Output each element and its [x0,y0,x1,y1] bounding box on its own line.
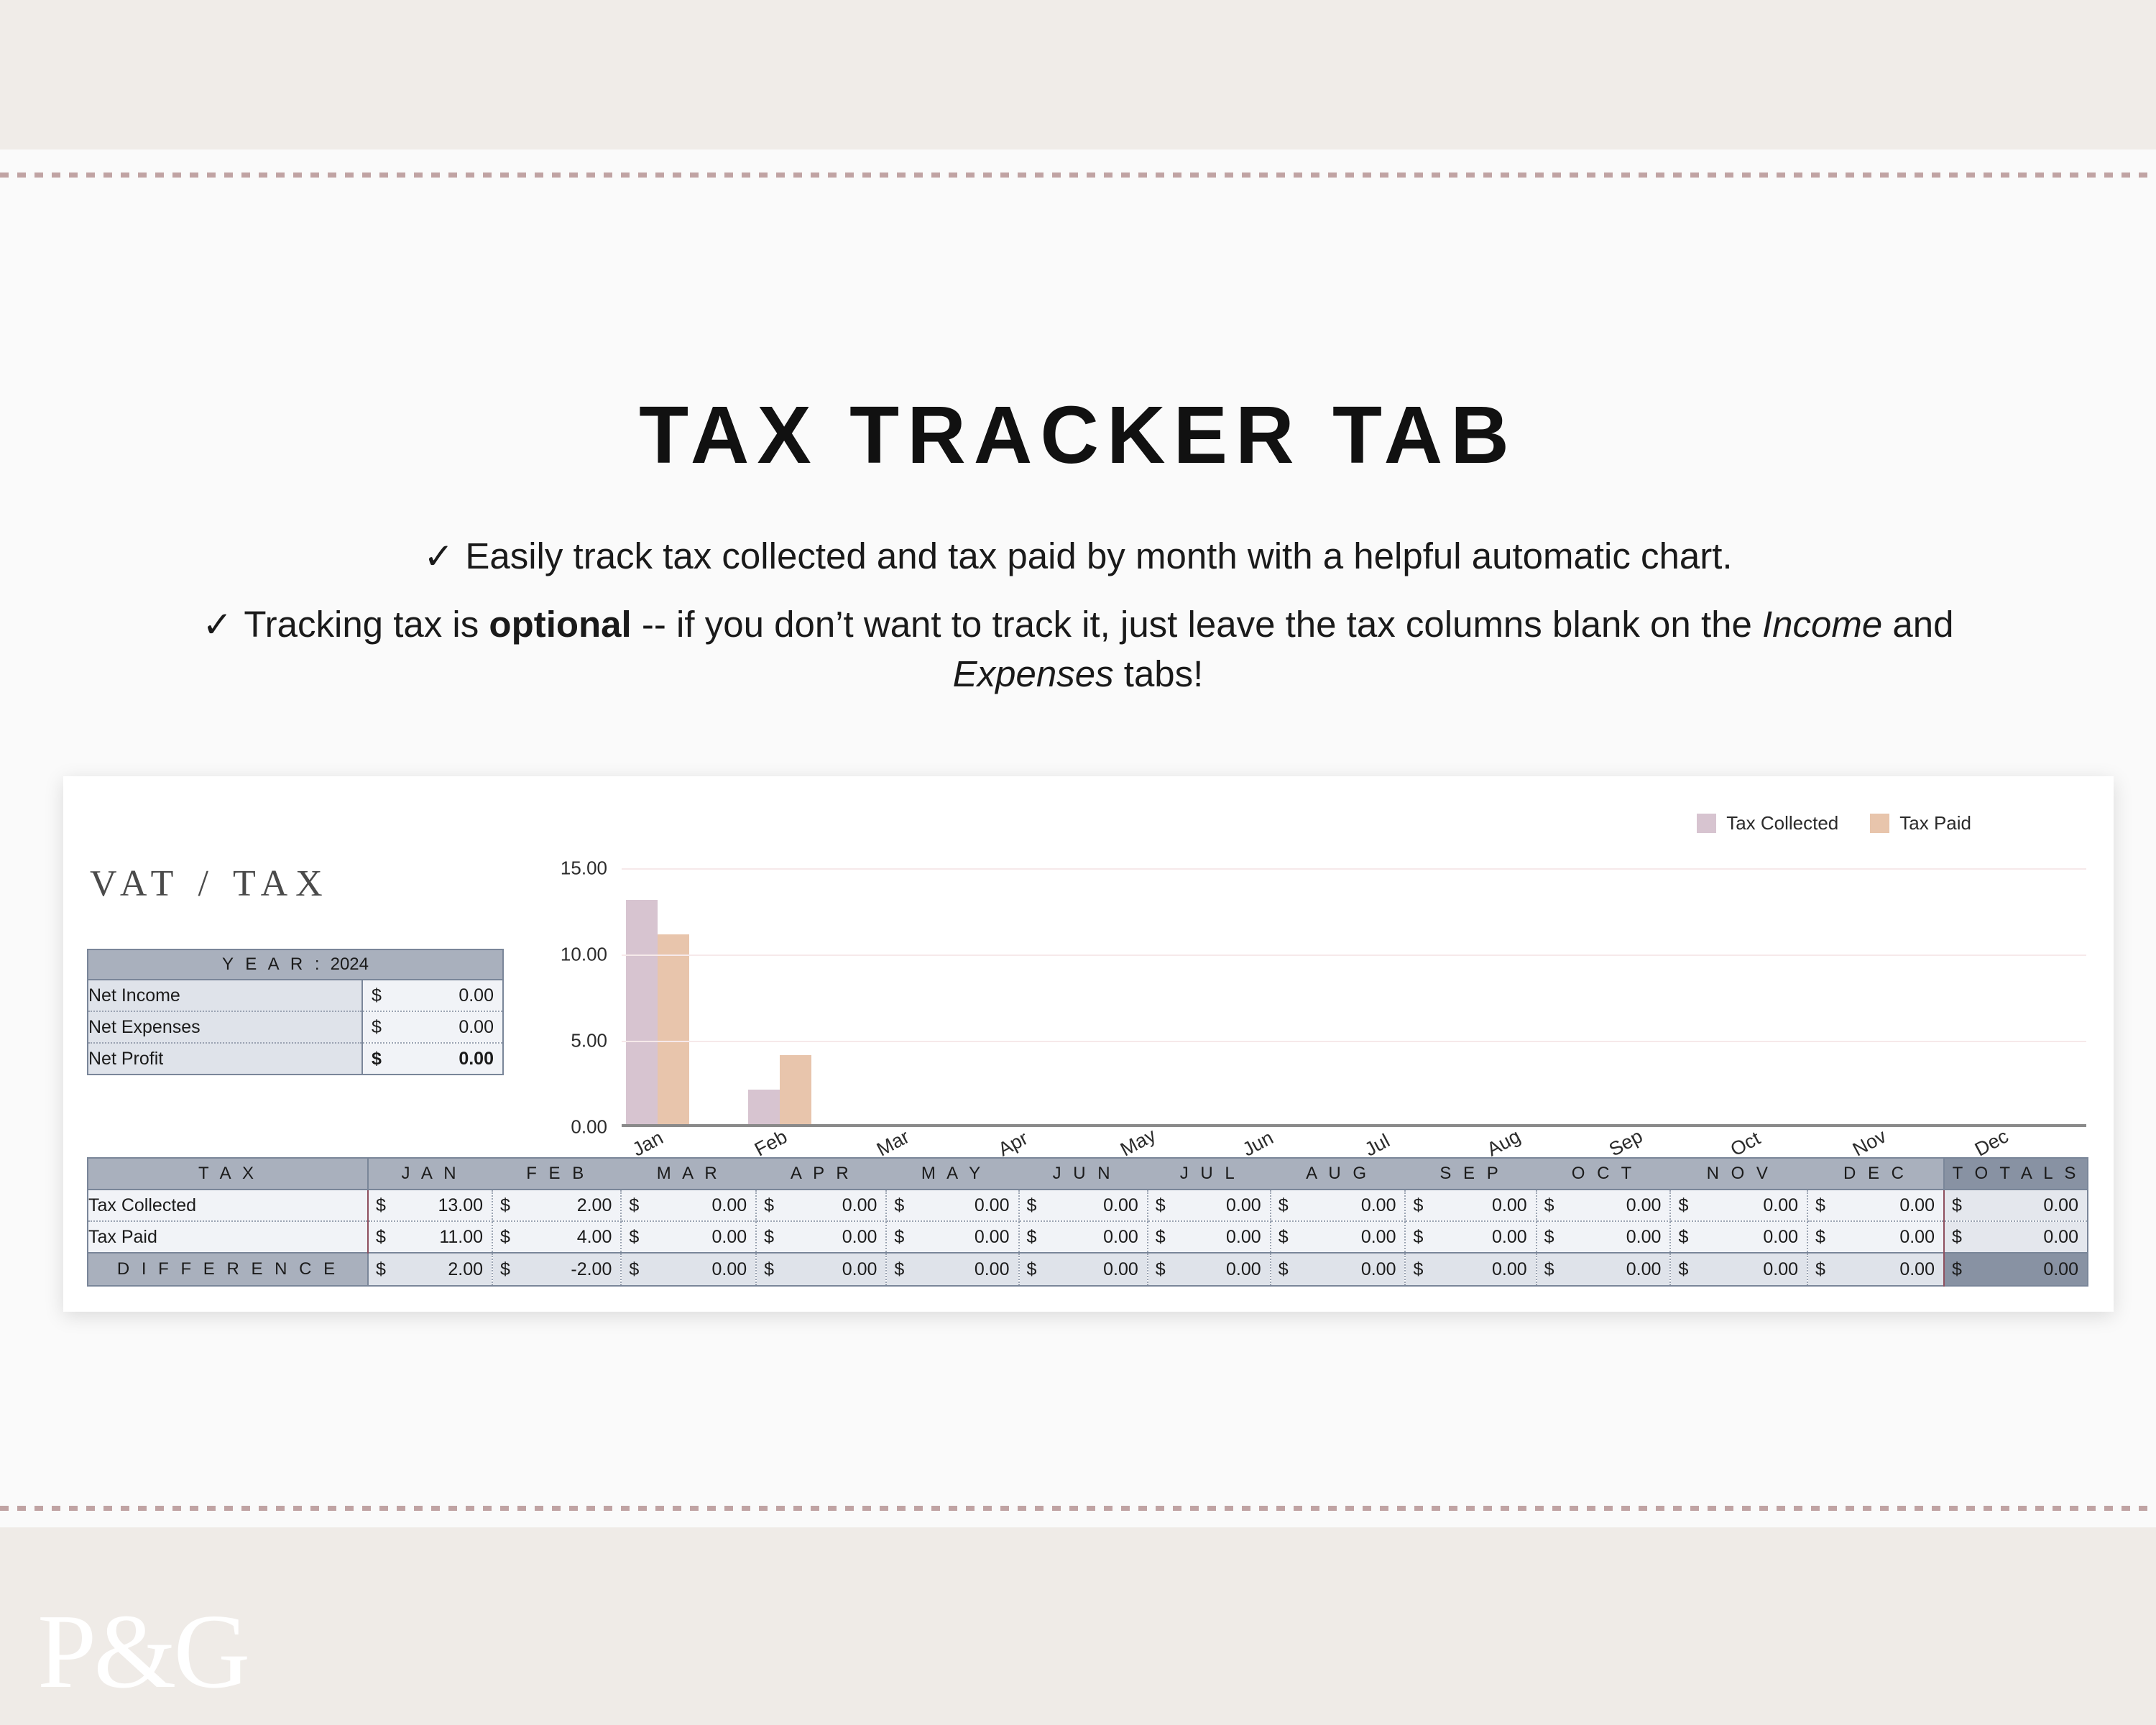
summary-row-label: Net Income [88,980,362,1011]
table-value-cell[interactable]: $0.00 [1271,1221,1406,1253]
currency-symbol: $ [629,1259,639,1280]
currency-symbol: $ [500,1259,510,1280]
cell-amount: 0.00 [1406,1259,1535,1280]
legend-swatch-icon [1870,814,1889,833]
table-header-month: J U L [1148,1158,1271,1190]
table-value-cell[interactable]: $0.00 [1148,1221,1271,1253]
currency-symbol: $ [1156,1259,1166,1280]
table-header-month: J A N [368,1158,492,1190]
currency-symbol: $ [1279,1259,1289,1280]
cell-amount: 0.00 [1945,1259,2087,1280]
x-axis-tick-label: Mar [873,1126,913,1161]
summary-row: Net Profit $ 0.00 [88,1043,503,1075]
table-value-cell[interactable]: $0.00 [1670,1190,1807,1221]
chart-plot [622,868,2086,1127]
chart-month-group [1354,868,1476,1124]
chart-month-group [1842,868,1964,1124]
table-value-cell[interactable]: $0.00 [1807,1253,1944,1286]
table-header-totals: T O T A L S [1944,1158,2088,1190]
currency-symbol: $ [1678,1227,1688,1248]
currency-symbol: $ [500,1195,510,1216]
currency-symbol: $ [894,1227,904,1248]
table-header-tax: T A X [88,1158,368,1190]
table-value-cell[interactable]: $0.00 [621,1253,756,1286]
cell-amount: 0.00 [1148,1227,1270,1248]
bullet-item-2-and: and [1882,604,1953,645]
currency-symbol: $ [372,985,382,1006]
table-value-cell[interactable]: $4.00 [492,1221,621,1253]
cell-amount: 11.00 [369,1227,492,1248]
summary-box: Y E A R :2024 Net Income $ 0.00 Net Expe… [87,949,504,1075]
cell-amount: 0.00 [1148,1259,1270,1280]
chart-bar [658,934,689,1124]
currency-symbol: $ [1544,1227,1554,1248]
y-axis-tick-label: 10.00 [561,944,607,966]
cell-amount: 0.00 [1537,1259,1670,1280]
legend-item: Tax Paid [1870,812,1971,834]
table-value-cell[interactable]: $0.00 [1405,1190,1536,1221]
currency-symbol: $ [764,1227,774,1248]
cell-amount: 0.00 [1406,1195,1535,1216]
legend-swatch-icon [1697,814,1716,833]
currency-symbol: $ [1952,1227,1962,1248]
summary-row-label: Net Profit [88,1043,362,1075]
summary-row: Net Expenses $ 0.00 [88,1011,503,1043]
table-difference-label: D I F F E R E N C E [88,1253,368,1286]
currency-symbol: $ [376,1227,386,1248]
summary-row-value: $ 0.00 [362,980,503,1011]
summary-amount: 0.00 [363,1049,502,1069]
table-value-cell[interactable]: $0.00 [1019,1253,1148,1286]
table-value-cell[interactable]: $0.00 [1019,1190,1148,1221]
bullet-item-2-post: tabs! [1114,653,1204,694]
top-dotted-divider [0,172,2156,178]
checkmark-icon: ✓ [202,604,244,645]
table-total-cell[interactable]: $0.00 [1944,1221,2088,1253]
currency-symbol: $ [629,1227,639,1248]
summary-row: Net Income $ 0.00 [88,980,503,1011]
cell-amount: 0.00 [1808,1195,1943,1216]
chart-bar [748,1090,780,1124]
table-value-cell[interactable]: $0.00 [886,1253,1018,1286]
bullet-item-2: ✓Tracking tax is optional -- if you don’… [180,600,1976,699]
currency-symbol: $ [372,1049,382,1069]
table-value-cell[interactable]: $0.00 [1537,1190,1671,1221]
table-value-cell[interactable]: $0.00 [1405,1221,1536,1253]
cell-amount: 0.00 [1671,1195,1807,1216]
table-value-cell[interactable]: $0.00 [1807,1221,1944,1253]
table-difference-row: D I F F E R E N C E$2.00$-2.00$0.00$0.00… [88,1253,2088,1286]
currency-symbol: $ [1027,1259,1037,1280]
spreadsheet-card: VAT / TAX Y E A R :2024 Net Income $ 0.0… [63,776,2114,1312]
cell-amount: 0.00 [757,1195,885,1216]
table-value-cell[interactable]: $0.00 [1807,1190,1944,1221]
chart-month-group [987,868,1110,1124]
chart-bar [780,1055,811,1124]
table-value-cell[interactable]: $0.00 [1405,1253,1536,1286]
bottom-dotted-divider [0,1506,2156,1511]
cell-amount: 0.00 [1271,1259,1405,1280]
brand-logo: P&G [37,1598,247,1705]
table-value-cell[interactable]: $0.00 [1148,1253,1271,1286]
table-value-cell[interactable]: $0.00 [1148,1190,1271,1221]
table-value-cell[interactable]: $0.00 [756,1190,886,1221]
currency-symbol: $ [1156,1195,1166,1216]
table-value-cell[interactable]: $2.00 [492,1190,621,1221]
table-row-label: Tax Paid [88,1221,368,1253]
currency-symbol: $ [629,1195,639,1216]
currency-symbol: $ [500,1227,510,1248]
y-axis-tick-label: 5.00 [571,1030,607,1052]
cell-amount: 0.00 [622,1227,755,1248]
chart-plot-area: 0.005.0010.0015.00 JanFebMarAprMayJunJul… [534,868,2086,1170]
vat-tax-heading: VAT / TAX [90,862,331,905]
table-value-cell[interactable]: $0.00 [1670,1221,1807,1253]
table-header-month: M A Y [886,1158,1018,1190]
checkmark-icon: ✓ [423,536,465,576]
cell-amount: 0.00 [1808,1259,1943,1280]
chart-month-group [744,868,866,1124]
table-header-month: D E C [1807,1158,1944,1190]
bullet-item-1-text: Easily track tax collected and tax paid … [465,535,1732,576]
chart-gridline [622,868,2086,870]
currency-symbol: $ [1952,1259,1962,1280]
table-header-month: N O V [1670,1158,1807,1190]
chart-month-group [1476,868,1598,1124]
currency-symbol: $ [764,1195,774,1216]
cell-amount: 13.00 [369,1195,492,1216]
table-value-cell[interactable]: $0.00 [756,1253,886,1286]
currency-symbol: $ [1413,1227,1423,1248]
x-axis-tick-label: May [1117,1124,1160,1161]
x-axis-tick-label: Aug [1483,1125,1524,1161]
bullet-item-2-mid: -- if you don’t want to track it, just l… [632,604,1762,645]
chart-y-axis: 0.005.0010.0015.00 [534,868,614,1127]
cell-amount: 0.00 [622,1195,755,1216]
tax-data-table: T A XJ A NF E BM A RA P RM A YJ U NJ U L… [87,1157,2088,1287]
currency-symbol: $ [894,1259,904,1280]
chart-month-group [1964,868,2086,1124]
bottom-decorative-band [0,1527,2156,1725]
table-header-month: F E B [492,1158,621,1190]
currency-symbol: $ [1544,1259,1554,1280]
table-value-cell[interactable]: $0.00 [1019,1221,1148,1253]
cell-amount: 0.00 [1945,1195,2087,1216]
cell-amount: 0.00 [1537,1195,1670,1216]
currency-symbol: $ [376,1195,386,1216]
top-decorative-band [0,0,2156,149]
summary-row-value: $ 0.00 [362,1011,503,1043]
table-row: Tax Collected$13.00$2.00$0.00$0.00$0.00$… [88,1190,2088,1221]
cell-amount: 0.00 [1020,1259,1147,1280]
table-value-cell[interactable]: $0.00 [1537,1253,1671,1286]
chart-bars [622,868,2086,1124]
currency-symbol: $ [1156,1227,1166,1248]
legend-item: Tax Collected [1697,812,1838,834]
table-header-row: T A XJ A NF E BM A RA P RM A YJ U NJ U L… [88,1158,2088,1190]
table-value-cell[interactable]: $0.00 [886,1190,1018,1221]
x-axis-tick-label: Oct [1727,1127,1764,1161]
bullet-spacer [0,581,2156,600]
table-value-cell[interactable]: $0.00 [621,1221,756,1253]
x-axis-tick-label: Jun [1239,1127,1277,1161]
currency-symbol: $ [1027,1227,1037,1248]
cell-amount: 0.00 [887,1227,1018,1248]
cell-amount: 0.00 [1271,1195,1405,1216]
cell-amount: 0.00 [887,1259,1018,1280]
bullet-list: ✓Easily track tax collected and tax paid… [0,532,2156,699]
bullet-item-2-italic-income: Income [1762,604,1882,645]
chart-month-group [1110,868,1232,1124]
cell-amount: 0.00 [1537,1227,1670,1248]
y-axis-tick-label: 15.00 [561,857,607,880]
table-value-cell[interactable]: $2.00 [368,1253,492,1286]
bullet-item-2-pre: Tracking tax is [244,604,489,645]
currency-symbol: $ [372,1017,382,1038]
cell-amount: 0.00 [1671,1227,1807,1248]
table-value-cell[interactable]: $13.00 [368,1190,492,1221]
table-value-cell[interactable]: $0.00 [621,1190,756,1221]
chart-month-group [1720,868,1842,1124]
table-total-cell[interactable]: $0.00 [1944,1190,2088,1221]
table-header-month: A P R [756,1158,886,1190]
summary-year-label: Y E A R : [222,954,323,974]
currency-symbol: $ [764,1259,774,1280]
x-axis-tick-label: Jan [629,1127,667,1161]
table-body: Tax Collected$13.00$2.00$0.00$0.00$0.00$… [88,1190,2088,1286]
chart-month-group [1598,868,1720,1124]
currency-symbol: $ [1815,1195,1825,1216]
cell-amount: 0.00 [1671,1259,1807,1280]
x-axis-tick-label: Sep [1606,1125,1646,1161]
cell-amount: 0.00 [757,1259,885,1280]
summary-header: Y E A R :2024 [88,949,503,980]
cell-amount: 0.00 [1271,1227,1405,1248]
table-value-cell[interactable]: $0.00 [886,1221,1018,1253]
currency-symbol: $ [1678,1259,1688,1280]
cell-amount: 0.00 [1406,1227,1535,1248]
currency-symbol: $ [1815,1227,1825,1248]
currency-symbol: $ [1027,1195,1037,1216]
table-value-cell[interactable]: $11.00 [368,1221,492,1253]
cell-amount: 0.00 [1148,1195,1270,1216]
cell-amount: 4.00 [493,1227,620,1248]
table-header-month: J U N [1019,1158,1148,1190]
cell-amount: 0.00 [1020,1227,1147,1248]
cell-amount: 0.00 [1945,1227,2087,1248]
table-value-cell[interactable]: $0.00 [1271,1190,1406,1221]
summary-amount: 0.00 [363,985,502,1006]
x-axis-tick-label: Jul [1361,1130,1393,1161]
currency-symbol: $ [1544,1195,1554,1216]
summary-year-value[interactable]: 2024 [323,954,369,974]
summary-row-label: Net Expenses [88,1011,362,1043]
currency-symbol: $ [1413,1259,1423,1280]
table-header-month: S E P [1405,1158,1536,1190]
table-value-cell[interactable]: $0.00 [1537,1221,1671,1253]
currency-symbol: $ [376,1259,386,1280]
cell-amount: 0.00 [757,1227,885,1248]
chart-legend: Tax CollectedTax Paid [1697,812,1971,834]
summary-amount: 0.00 [363,1017,502,1038]
cell-amount: 0.00 [1020,1195,1147,1216]
x-axis-tick-label: Nov [1849,1125,1890,1161]
bullet-item-1: ✓Easily track tax collected and tax paid… [0,532,2156,581]
currency-symbol: $ [1678,1195,1688,1216]
chart-gridline [622,1041,2086,1042]
x-axis-tick-label: Apr [995,1127,1032,1161]
table-header-month: A U G [1271,1158,1406,1190]
legend-label: Tax Collected [1726,812,1838,834]
chart-gridline [622,954,2086,956]
cell-amount: -2.00 [493,1259,620,1280]
chart-month-group [622,868,744,1124]
cell-amount: 2.00 [493,1195,620,1216]
table-header-month: O C T [1537,1158,1671,1190]
table-row-label: Tax Collected [88,1190,368,1221]
cell-amount: 0.00 [622,1259,755,1280]
x-axis-tick-label: Dec [1971,1125,2012,1161]
currency-symbol: $ [1279,1195,1289,1216]
currency-symbol: $ [1413,1195,1423,1216]
bullet-item-2-bold: optional [489,604,631,645]
cell-amount: 0.00 [1808,1227,1943,1248]
legend-label: Tax Paid [1899,812,1971,834]
cell-amount: 2.00 [369,1259,492,1280]
table-header-month: M A R [621,1158,756,1190]
chart-x-axis-line [622,1124,2086,1127]
page-title: TAX TRACKER TAB [0,388,2156,482]
table-total-cell[interactable]: $0.00 [1944,1253,2088,1286]
chart-month-group [1232,868,1354,1124]
x-axis-tick-label: Feb [751,1126,791,1161]
currency-symbol: $ [1952,1195,1962,1216]
table-value-cell[interactable]: $0.00 [1271,1253,1406,1286]
chart-month-group [866,868,988,1124]
currency-symbol: $ [894,1195,904,1216]
table-value-cell[interactable]: $0.00 [1670,1253,1807,1286]
chart-bar [626,900,658,1124]
bullet-item-2-italic-expenses: Expenses [953,653,1114,694]
table-row: Tax Paid$11.00$4.00$0.00$0.00$0.00$0.00$… [88,1221,2088,1253]
currency-symbol: $ [1815,1259,1825,1280]
cell-amount: 0.00 [887,1195,1018,1216]
summary-row-value: $ 0.00 [362,1043,503,1075]
table-value-cell[interactable]: $-2.00 [492,1253,621,1286]
currency-symbol: $ [1279,1227,1289,1248]
table-value-cell[interactable]: $0.00 [756,1221,886,1253]
y-axis-tick-label: 0.00 [571,1116,607,1138]
